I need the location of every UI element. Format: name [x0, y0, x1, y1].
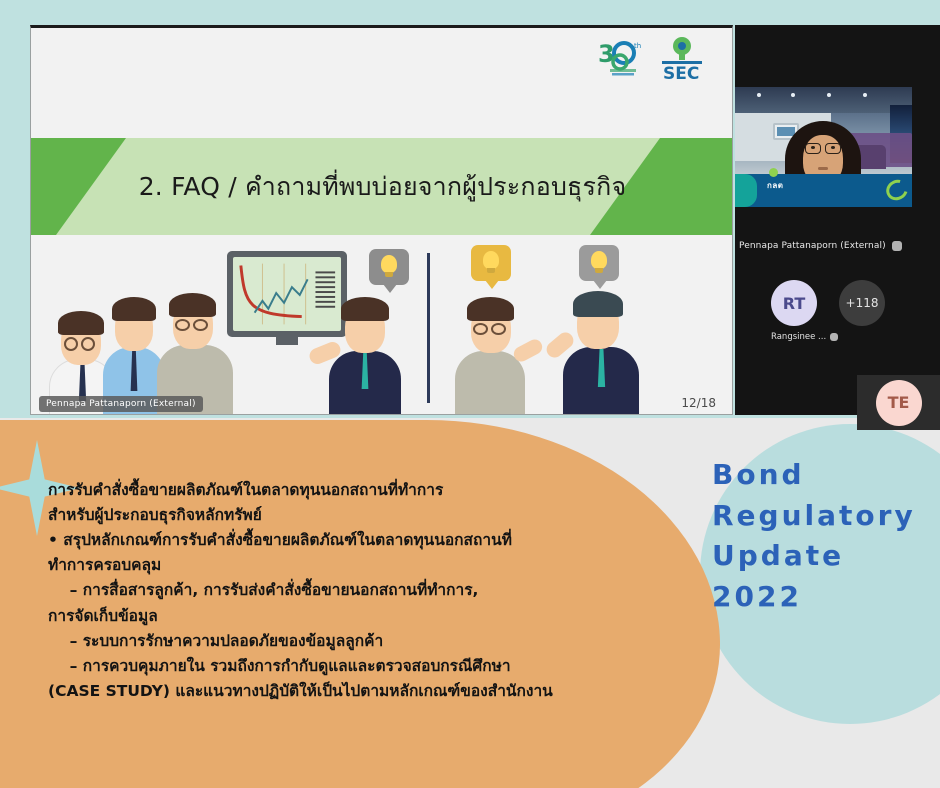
illustration-person-5 — [455, 295, 533, 415]
poster-root: 3 th SEC 2. FAQ / คำถามที่พบบ่อยจากผู้ปร… — [0, 0, 940, 788]
notes-line: สำหรับผู้ประกอบธุรกิจหลักทรัพย์ — [48, 503, 668, 528]
active-speaker-name: Pennapa Pattanaporn (External) — [739, 241, 886, 251]
active-speaker-video[interactable]: กลต — [735, 87, 912, 207]
participant-tile-te[interactable]: TE — [857, 375, 940, 430]
svg-text:th: th — [634, 42, 641, 50]
headline-line-3: Update — [712, 536, 940, 577]
mic-muted-icon — [892, 241, 902, 251]
sec-organization-logo-icon: SEC — [654, 34, 710, 82]
notes-line: การรับคำสั่งซื้อขายผลิตภัณฑ์ในตลาดทุนนอก… — [48, 478, 668, 503]
slide-page-indicator: 12/18 — [681, 396, 716, 410]
notes-line: – ระบบการรักษาความปลอดภัยของข้อมูลลูกค้า — [48, 629, 668, 654]
notes-line: ทำการครอบคลุม — [48, 553, 668, 578]
active-speaker-label: Pennapa Pattanaporn (External) — [739, 241, 902, 251]
video-ceiling — [735, 87, 912, 113]
notes-line: – การควบคุมภายใน รวมถึงการกำกับดูแลและตร… — [48, 654, 668, 679]
slide-illustration: Pennapa Pattanaporn (External) 12/18 — [31, 243, 733, 415]
notes-line: การจัดเก็บข้อมูล — [48, 604, 668, 629]
svg-text:SEC: SEC — [663, 64, 699, 82]
participant-name-label: Rangsinee ... — [771, 332, 838, 342]
slide-header: 3 th SEC — [31, 28, 732, 113]
mic-muted-icon — [830, 333, 838, 341]
illustration-divider — [427, 253, 430, 403]
participant-name: Rangsinee ... — [771, 332, 826, 342]
overflow-count-badge: +118 — [839, 280, 885, 326]
notes-line: – การสื่อสารลูกค้า, การรับส่งคำสั่งซื้อข… — [48, 578, 668, 603]
video-participant-rail[interactable]: กลต Pennapa Pattanaporn (External) RT Ra… — [735, 25, 940, 415]
shared-screen-slide[interactable]: 3 th SEC 2. FAQ / คำถามที่พบบ่อยจากผู้ปร… — [30, 25, 733, 415]
headline-line-1: Bond — [712, 455, 940, 496]
slide-presenter-tag: Pennapa Pattanaporn (External) — [39, 396, 203, 412]
avatar: TE — [876, 380, 922, 426]
participant-tile-rt[interactable]: RT Rangsinee ... — [771, 280, 838, 342]
avatar: RT — [771, 280, 817, 326]
notes-text-block: การรับคำสั่งซื้อขายผลิตภัณฑ์ในตลาดทุนนอก… — [48, 478, 668, 704]
slide-title-band: 2. FAQ / คำถามที่พบบ่อยจากผู้ประกอบธุรกิ… — [31, 138, 733, 235]
idea-bubble-icon-3 — [579, 245, 619, 281]
headline-line-4: 2022 — [712, 577, 940, 618]
board-stand — [276, 337, 298, 345]
illustration-person-6 — [551, 291, 643, 415]
idea-bubble-icon-2 — [471, 245, 511, 281]
illustration-person-4 — [321, 295, 407, 415]
participant-tiles: RT Rangsinee ... +118 — [735, 270, 940, 368]
slide-title: 2. FAQ / คำถามที่พบบ่อยจากผู้ประกอบธุรกิ… — [31, 138, 733, 235]
anniversary-30th-logo-icon: 3 th — [596, 36, 648, 80]
idea-bubble-icon-1 — [369, 249, 409, 285]
poster-headline: Bond Regulatory Update 2022 — [712, 455, 940, 617]
notes-line: • สรุปหลักเกณฑ์การรับคำสั่งซื้อขายผลิตภั… — [48, 528, 668, 553]
participant-tile-overflow[interactable]: +118 — [839, 280, 885, 326]
notes-line: (CASE STUDY) และแนวทางปฏิบัติให้เป็นไปตา… — [48, 679, 668, 704]
video-lower-third-banner: กลต — [735, 174, 912, 207]
headline-line-2: Regulatory — [712, 496, 940, 537]
